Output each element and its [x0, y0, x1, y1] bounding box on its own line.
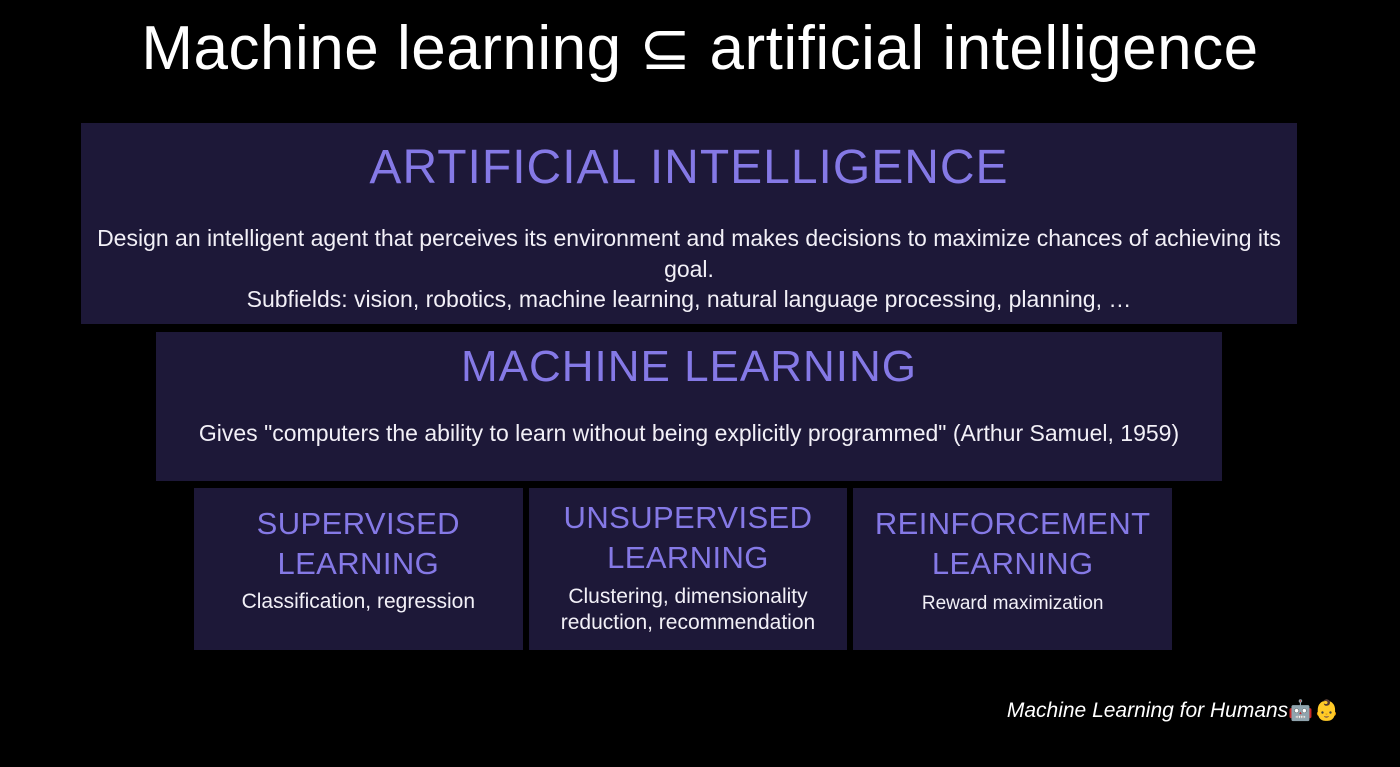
slide-title: Machine learning ⊆ artificial intelligen… — [0, 18, 1400, 80]
subfield-card-reinforcement-learning: REINFORCEMENT LEARNING Reward maximizati… — [853, 488, 1172, 650]
subfield-title-supervised-learning: SUPERVISED LEARNING — [194, 504, 523, 585]
subfield-description-supervised-learning: Classification, regression — [236, 589, 481, 616]
footer-credit: Machine Learning for Humans🤖👶 — [1007, 698, 1340, 723]
subfield-card-supervised-learning: SUPERVISED LEARNING Classification, regr… — [194, 488, 523, 650]
subfield-title-reinforcement-learning: REINFORCEMENT LEARNING — [853, 504, 1172, 585]
machine-learning-description: Gives "computers the ability to learn wi… — [156, 418, 1222, 448]
ai-description-line-1: Design an intelligent agent that perceiv… — [89, 223, 1289, 284]
artificial-intelligence-heading: ARTIFICIAL INTELLIGENCE — [81, 143, 1297, 193]
robot-face-emoji: 🤖👶 — [1288, 700, 1340, 722]
ai-description-line-2: Subfields: vision, robotics, machine lea… — [89, 284, 1289, 314]
subfield-card-unsupervised-learning: UNSUPERVISED LEARNING Clustering, dimens… — [529, 488, 848, 650]
machine-learning-heading: MACHINE LEARNING — [156, 344, 1222, 390]
subfield-description-reinforcement-learning: Reward maximization — [916, 592, 1110, 616]
subfield-title-unsupervised-learning: UNSUPERVISED LEARNING — [529, 498, 848, 579]
machine-learning-panel: MACHINE LEARNING Gives "computers the ab… — [156, 332, 1222, 481]
machine-learning-subfields-row: SUPERVISED LEARNING Classification, regr… — [194, 488, 1172, 650]
ml-description-line-1: Gives "computers the ability to learn wi… — [166, 418, 1212, 448]
slide-canvas: { "slide": { "title": "Machine learning … — [0, 0, 1400, 767]
footer-credit-text: Machine Learning for Humans — [1007, 699, 1288, 722]
artificial-intelligence-panel: ARTIFICIAL INTELLIGENCE Design an intell… — [81, 123, 1297, 324]
subfield-description-unsupervised-learning: Clustering, dimensionality reduction, re… — [529, 584, 848, 638]
artificial-intelligence-description: Design an intelligent agent that perceiv… — [81, 223, 1297, 314]
